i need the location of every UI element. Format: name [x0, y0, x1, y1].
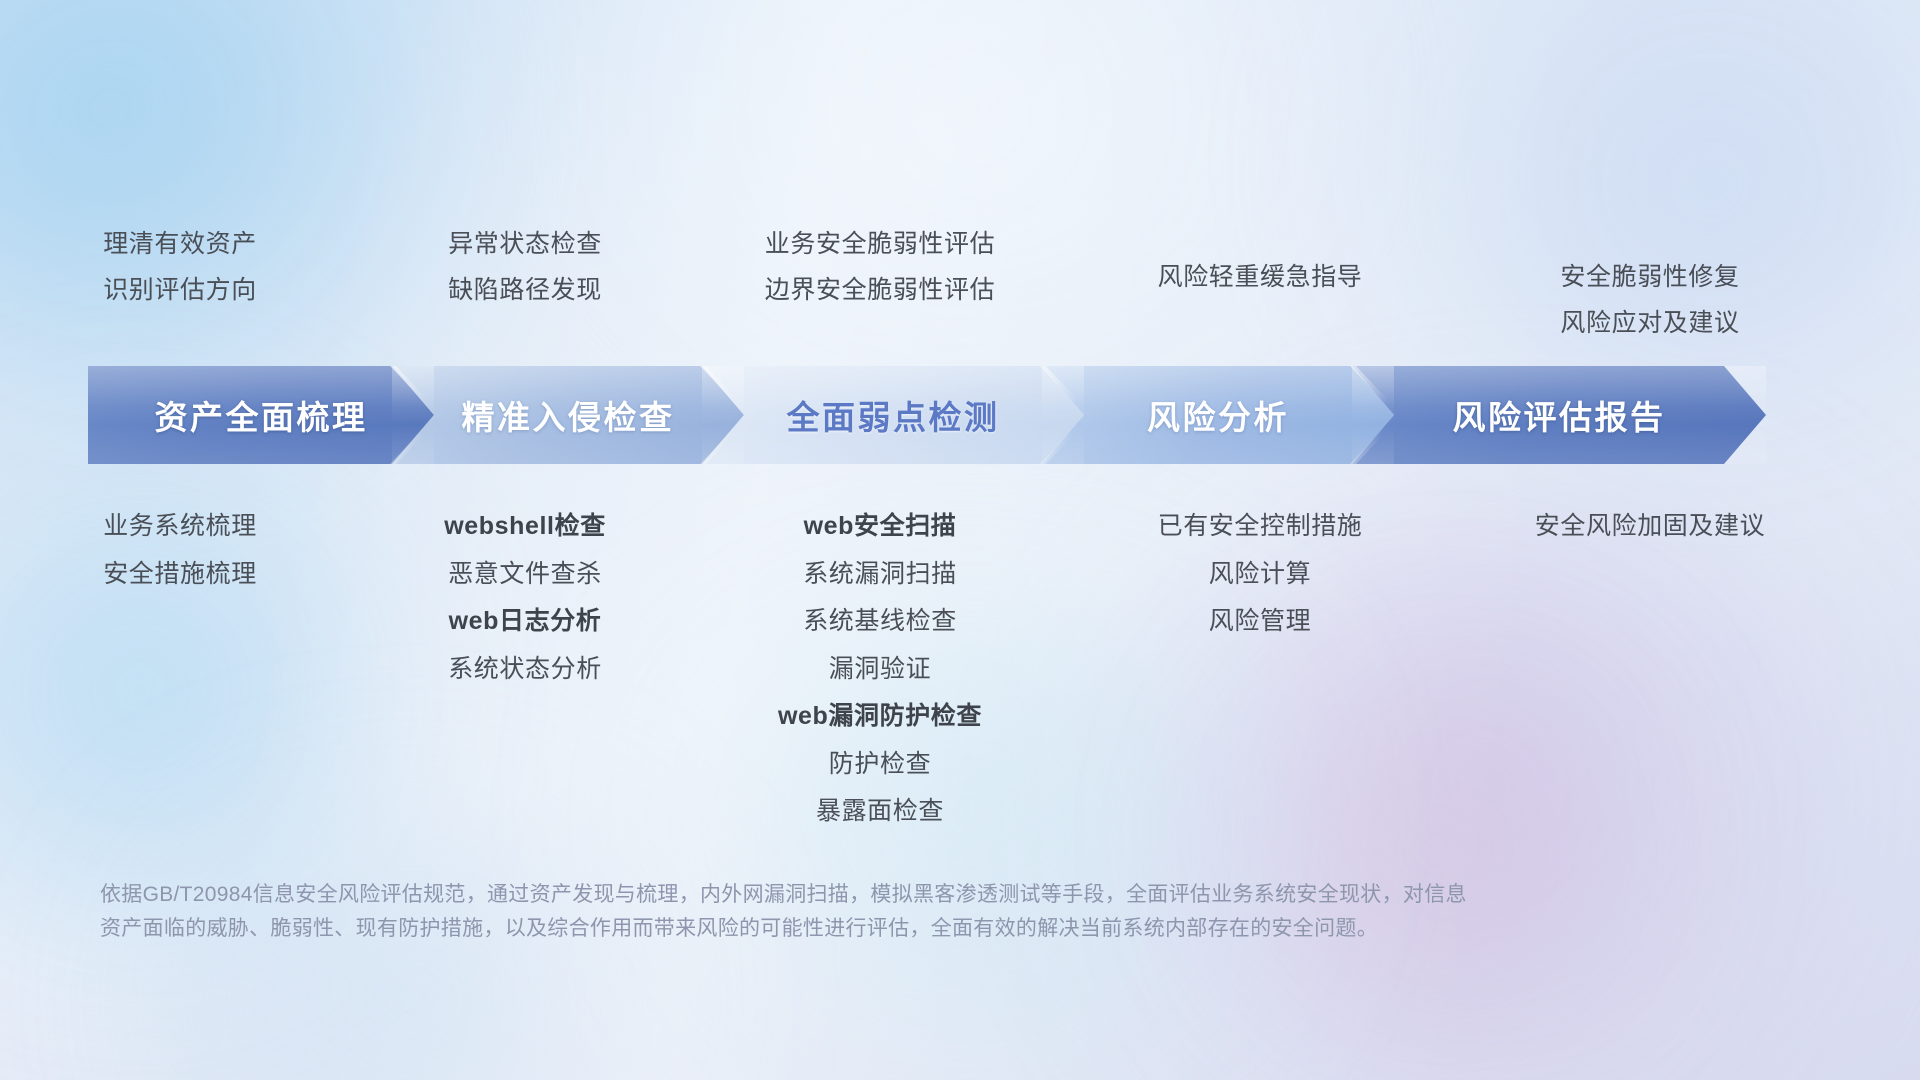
- stage-chevron-weakness-detection[interactable]: 全面弱点检测: [702, 366, 1084, 464]
- stage-title: 资产全面梳理: [155, 391, 368, 439]
- bottom-group-weakness-detection: web安全扫描 系统漏洞扫描 系统基线检查 漏洞验证 web漏洞防护检查 防护检…: [690, 510, 1070, 828]
- bottom-item: 系统状态分析: [448, 653, 602, 686]
- top-group-risk-analysis: 风险轻重缓急指导: [1070, 228, 1450, 295]
- stage-chevron-risk-report[interactable]: 风险评估报告: [1352, 366, 1766, 464]
- top-item: 理清有效资产: [103, 228, 257, 262]
- stage-chevron-asset-inventory[interactable]: 资产全面梳理: [88, 366, 434, 464]
- bottom-item: web日志分析: [449, 605, 602, 638]
- bottom-group-intrusion-check: webshell检查 恶意文件查杀 web日志分析 系统状态分析: [360, 510, 690, 685]
- stage-chevron-risk-analysis[interactable]: 风险分析: [1042, 366, 1394, 464]
- process-chevron-band: 资产全面梳理 精准入侵检查 全面弱点检测 风险分析 风险评估报告: [88, 366, 1850, 464]
- top-item: 缺陷路径发现: [448, 274, 602, 308]
- top-group-intrusion-check: 异常状态检查 缺陷路径发现: [360, 228, 690, 307]
- top-item: 风险应对及建议: [1560, 307, 1739, 341]
- top-group-weakness-detection: 业务安全脆弱性评估 边界安全脆弱性评估: [690, 228, 1070, 307]
- bottom-item: 系统漏洞扫描: [803, 558, 957, 591]
- stage-title: 风险分析: [1147, 391, 1289, 439]
- top-item: 业务安全脆弱性评估: [765, 228, 995, 262]
- bottom-item: 暴露面检查: [816, 795, 944, 828]
- bottom-item: 防护检查: [829, 748, 931, 781]
- bottom-group-risk-report: 安全风险加固及建议: [1450, 510, 1850, 543]
- bottom-item: 安全风险加固及建议: [1535, 510, 1765, 543]
- bottom-label-row: 业务系统梳理 安全措施梳理 webshell检查 恶意文件查杀 web日志分析 …: [0, 510, 1920, 828]
- slide-content: 理清有效资产 识别评估方向 异常状态检查 缺陷路径发现 业务安全脆弱性评估 边界…: [0, 0, 1920, 1080]
- bottom-item: 安全措施梳理: [103, 558, 257, 591]
- top-item: 风险轻重缓急指导: [1158, 261, 1363, 295]
- footer-line-1: 依据GB/T20984信息安全风险评估规范，通过资产发现与梳理，内外网漏洞扫描，…: [100, 878, 1640, 912]
- top-item: 识别评估方向: [103, 274, 257, 308]
- top-item: 安全脆弱性修复: [1560, 261, 1739, 295]
- bottom-item: 风险管理: [1209, 605, 1311, 638]
- top-group-risk-report: 安全脆弱性修复 风险应对及建议: [1450, 228, 1850, 340]
- slide-canvas: 理清有效资产 识别评估方向 异常状态检查 缺陷路径发现 业务安全脆弱性评估 边界…: [0, 0, 1920, 1080]
- bottom-group-asset-inventory: 业务系统梳理 安全措施梳理: [0, 510, 360, 590]
- top-group-asset-inventory: 理清有效资产 识别评估方向: [0, 228, 360, 307]
- bottom-item: webshell检查: [444, 510, 606, 543]
- stage-chevron-intrusion-check[interactable]: 精准入侵检查: [392, 366, 744, 464]
- bottom-item: 系统基线检查: [803, 605, 957, 638]
- footer-line-2: 资产面临的威胁、脆弱性、现有防护措施，以及综合作用而带来风险的可能性进行评估，全…: [100, 912, 1640, 946]
- stage-title: 风险评估报告: [1453, 391, 1666, 439]
- bottom-group-risk-analysis: 已有安全控制措施 风险计算 风险管理: [1070, 510, 1450, 638]
- top-item: 异常状态检查: [448, 228, 602, 262]
- band-shadow: [96, 462, 1836, 488]
- footer-description: 依据GB/T20984信息安全风险评估规范，通过资产发现与梳理，内外网漏洞扫描，…: [100, 878, 1640, 946]
- bottom-item: 风险计算: [1209, 558, 1311, 591]
- bottom-item: 业务系统梳理: [103, 510, 257, 543]
- bottom-item: 已有安全控制措施: [1158, 510, 1363, 543]
- stage-title: 全面弱点检测: [787, 391, 1000, 439]
- stage-title: 精准入侵检查: [462, 391, 675, 439]
- top-item: 边界安全脆弱性评估: [765, 274, 995, 308]
- bottom-item: web安全扫描: [804, 510, 957, 543]
- top-label-row: 理清有效资产 识别评估方向 异常状态检查 缺陷路径发现 业务安全脆弱性评估 边界…: [0, 228, 1920, 340]
- bottom-item: 漏洞验证: [829, 653, 931, 686]
- bottom-item: web漏洞防护检查: [778, 700, 982, 733]
- bottom-item: 恶意文件查杀: [448, 558, 602, 591]
